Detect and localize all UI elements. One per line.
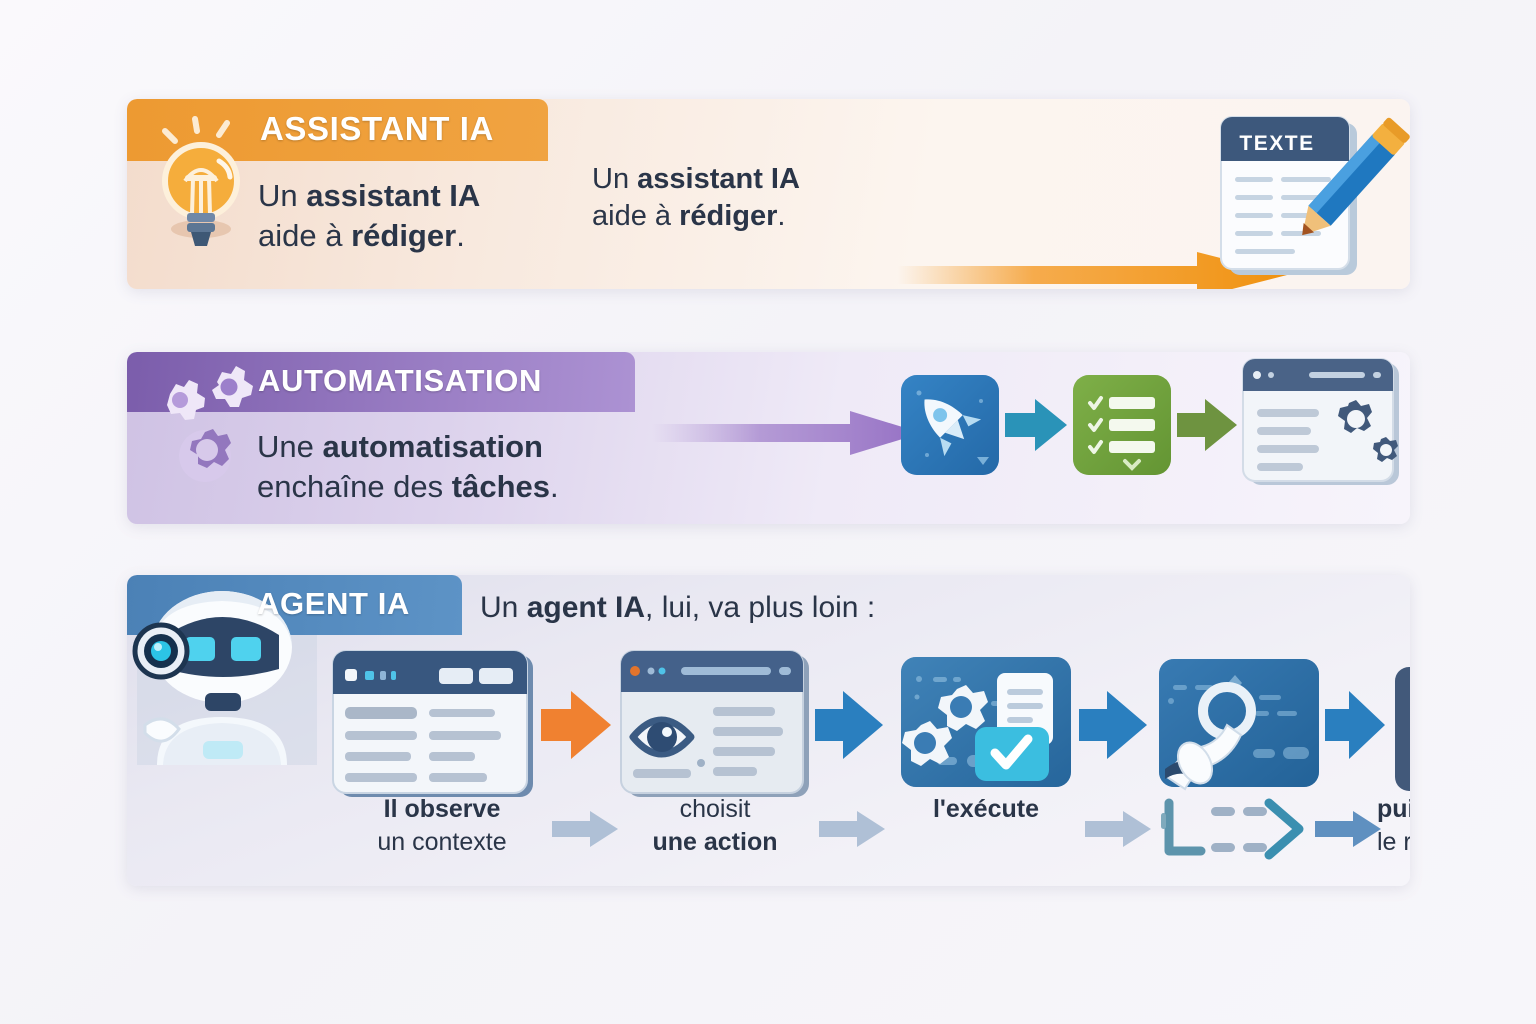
- gears-document-check-icon: [901, 657, 1071, 787]
- assistant-restate-l1-bold: assistant IA: [637, 163, 800, 195]
- automatisation-flow-arrow-2: [1177, 399, 1237, 451]
- assistant-heading: Un assistant IA aide à rédiger.: [258, 176, 480, 255]
- lightbulb-icon: [145, 109, 257, 259]
- robot-hand-panel-icon: [1159, 659, 1319, 790]
- automatisation-heading-l1-regular: Une: [257, 429, 322, 464]
- agent-step-labels: Il observe un contexte choisit une actio…: [127, 793, 1410, 873]
- assistant-band-label: ASSISTANT IA: [260, 110, 494, 148]
- automatisation-heading-l1-bold: automatisation: [322, 429, 542, 464]
- assistant-heading-l2-regular: aide à: [258, 218, 351, 253]
- automatisation-flow-arrow-1: [1005, 399, 1067, 451]
- agent-flow-arrow-1: [541, 691, 611, 759]
- agent-lead-regular-2: , lui, va plus loin :: [645, 591, 875, 624]
- agent-step-5-regular: le résultat: [1377, 828, 1410, 856]
- agent-label-arrow-2: [819, 811, 885, 847]
- automatisation-arrow-icon: [652, 410, 922, 456]
- agent-step-label-1: Il observe un contexte: [342, 793, 542, 859]
- agent-card: AGENT IA Un agent IA, lui, va plus loin …: [127, 575, 1410, 886]
- agent-step-label-3: l'exécute: [895, 793, 1077, 826]
- agent-step-1-bold: Il observe: [384, 795, 501, 823]
- browser-window-list-icon: [333, 651, 533, 797]
- assistant-restatement: Un assistant IA aide à rédiger.: [592, 161, 800, 235]
- eye-window-icon: [621, 651, 809, 797]
- automatisation-heading-l2-bold: tâches: [452, 469, 550, 504]
- assistant-heading-l2-tail: .: [456, 218, 465, 253]
- agent-label-arrow-1: [552, 811, 618, 847]
- clipboard-check-magnifier-icon: [1395, 659, 1410, 791]
- agent-flow-row: [127, 645, 1410, 805]
- agent-step-2-regular: une action: [652, 828, 777, 856]
- agent-step-2-bold: choisit: [680, 795, 751, 823]
- automatisation-heading: Une automatisation enchaîne des tâches.: [257, 427, 559, 506]
- automatisation-heading-l2-tail: .: [550, 469, 559, 504]
- automatisation-heading-l2-regular: enchaîne des: [257, 469, 452, 504]
- automatisation-flow: [897, 357, 1407, 497]
- rocket-icon: [901, 375, 999, 475]
- agent-lead-regular-1: Un: [480, 591, 527, 624]
- assistant-heading-l1-bold: assistant IA: [306, 178, 480, 213]
- assistant-heading-l2-bold: rédiger: [351, 218, 456, 253]
- agent-flow-arrow-2: [815, 691, 883, 759]
- agent-label-arrow-3: [1085, 811, 1151, 847]
- agent-step-5-bold: puis vérifie: [1377, 795, 1410, 823]
- agent-step-1-regular: un contexte: [377, 828, 506, 856]
- browser-window-with-gears-icon: [1243, 359, 1399, 485]
- text-document-with-pencil-icon: TEXTE: [1177, 99, 1407, 289]
- document-texte-label: TEXTE: [1239, 132, 1314, 155]
- agent-step-label-2: choisit une action: [622, 793, 808, 859]
- automatisation-card: AUTOMATISATION Une automatisation enchaî…: [127, 352, 1410, 524]
- assistant-restate-l2-regular: aide à: [592, 200, 679, 232]
- assistant-restate-l1-regular: Un: [592, 163, 637, 195]
- agent-lead-bold: agent IA: [527, 591, 645, 624]
- assistant-card: ASSISTANT IA Un assistant IA aide à rédi…: [127, 99, 1410, 289]
- agent-flow-arrow-3: [1079, 691, 1147, 759]
- automatisation-band-label: AUTOMATISATION: [258, 363, 542, 399]
- agent-step-3-bold: l'exécute: [933, 795, 1039, 823]
- agent-step-label-5: puis vérifie le résultat: [1217, 793, 1410, 859]
- agent-lead-text: Un agent IA, lui, va plus loin :: [480, 589, 875, 627]
- assistant-restate-l2-bold: rédiger: [679, 200, 777, 232]
- assistant-heading-l1-regular: Un: [258, 178, 306, 213]
- agent-band-label: AGENT IA: [257, 586, 410, 622]
- gears-icon: [145, 360, 265, 505]
- checklist-icon: [1073, 375, 1171, 475]
- assistant-restate-l2-tail: .: [777, 200, 785, 232]
- agent-flow-arrow-4: [1325, 691, 1385, 759]
